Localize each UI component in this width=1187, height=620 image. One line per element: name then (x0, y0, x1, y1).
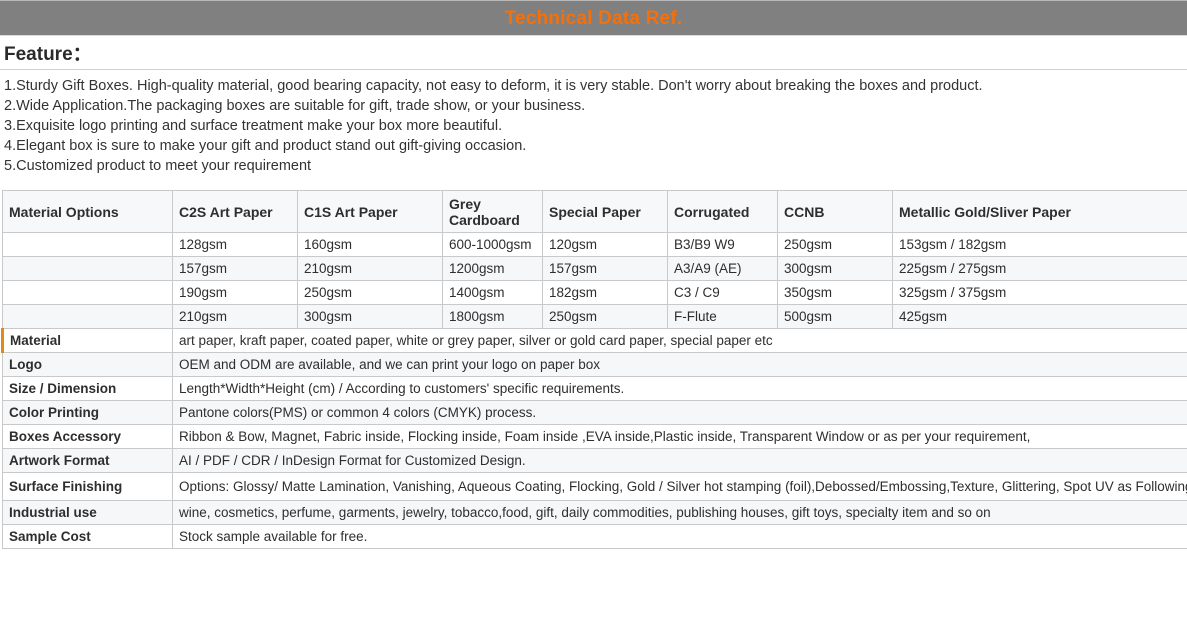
spec-row-color-printing: Color Printing Pantone colors(PMS) or co… (3, 401, 1187, 425)
column-header-metallic-paper: Metallic Gold/Sliver Paper (893, 191, 1187, 233)
spec-row-boxes-accessory: Boxes Accessory Ribbon & Bow, Magnet, Fa… (3, 425, 1187, 449)
material-options-header-row: Material Options C2S Art Paper C1S Art P… (3, 191, 1187, 233)
feature-line: 4.Elegant box is sure to make your gift … (4, 136, 1183, 156)
spec-row-logo: Logo OEM and ODM are available, and we c… (3, 353, 1187, 377)
column-header-ccnb: CCNB (778, 191, 893, 233)
cell-metallic: 153gsm / 182gsm (893, 233, 1187, 257)
spec-label: Size / Dimension (3, 377, 173, 401)
cell-metallic: 325gsm / 375gsm (893, 281, 1187, 305)
cell-c2s: 210gsm (173, 305, 298, 329)
spec-value: Stock sample available for free. (173, 525, 1187, 549)
cell-corrugated: F-Flute (668, 305, 778, 329)
cell-material-options (3, 233, 173, 257)
spec-row-industrial-use: Industrial use wine, cosmetics, perfume,… (3, 501, 1187, 525)
cell-special: 157gsm (543, 257, 668, 281)
cell-ccnb: 500gsm (778, 305, 893, 329)
column-header-grey-cardboard: Grey Cardboard (443, 191, 543, 233)
column-header-special-paper: Special Paper (543, 191, 668, 233)
cell-c2s: 157gsm (173, 257, 298, 281)
feature-list: 1.Sturdy Gift Boxes. High-quality materi… (0, 70, 1187, 182)
spec-value: Pantone colors(PMS) or common 4 colors (… (173, 401, 1187, 425)
spec-label: Sample Cost (3, 525, 173, 549)
spec-label: Industrial use (3, 501, 173, 525)
spec-row-material: Material art paper, kraft paper, coated … (3, 329, 1187, 353)
spec-value: OEM and ODM are available, and we can pr… (173, 353, 1187, 377)
spec-label: Color Printing (3, 401, 173, 425)
cell-c1s: 210gsm (298, 257, 443, 281)
cell-c1s: 300gsm (298, 305, 443, 329)
feature-line: 1.Sturdy Gift Boxes. High-quality materi… (4, 76, 1183, 96)
cell-grey: 1800gsm (443, 305, 543, 329)
cell-material-options (3, 281, 173, 305)
cell-special: 182gsm (543, 281, 668, 305)
table-row: 157gsm 210gsm 1200gsm 157gsm A3/A9 (AE) … (3, 257, 1187, 281)
specification-table: Material Options C2S Art Paper C1S Art P… (1, 190, 1187, 549)
spec-label: Surface Finishing (3, 473, 173, 501)
spec-label: Artwork Format (3, 449, 173, 473)
cell-ccnb: 350gsm (778, 281, 893, 305)
column-header-c1s-art-paper: C1S Art Paper (298, 191, 443, 233)
feature-line: 3.Exquisite logo printing and surface tr… (4, 116, 1183, 136)
table-row: 210gsm 300gsm 1800gsm 250gsm F-Flute 500… (3, 305, 1187, 329)
column-header-corrugated: Corrugated (668, 191, 778, 233)
table-row: 190gsm 250gsm 1400gsm 182gsm C3 / C9 350… (3, 281, 1187, 305)
spec-value: Options: Glossy/ Matte Lamination, Vanis… (173, 473, 1187, 501)
cell-grey: 600-1000gsm (443, 233, 543, 257)
page-title: Technical Data Ref. (505, 9, 683, 28)
cell-material-options (3, 305, 173, 329)
cell-ccnb: 250gsm (778, 233, 893, 257)
spec-label: Material (3, 329, 173, 353)
cell-c2s: 128gsm (173, 233, 298, 257)
column-header-material-options: Material Options (3, 191, 173, 233)
spec-value: wine, cosmetics, perfume, garments, jewe… (173, 501, 1187, 525)
title-banner: Technical Data Ref. (0, 0, 1187, 36)
cell-special: 250gsm (543, 305, 668, 329)
cell-metallic: 225gsm / 275gsm (893, 257, 1187, 281)
feature-heading-label: Feature： (4, 39, 92, 66)
cell-ccnb: 300gsm (778, 257, 893, 281)
cell-corrugated: B3/B9 W9 (668, 233, 778, 257)
spec-row-size-dimension: Size / Dimension Length*Width*Height (cm… (3, 377, 1187, 401)
cell-special: 120gsm (543, 233, 668, 257)
column-header-c2s-art-paper: C2S Art Paper (173, 191, 298, 233)
cell-grey: 1400gsm (443, 281, 543, 305)
spec-value: Ribbon & Bow, Magnet, Fabric inside, Flo… (173, 425, 1187, 449)
cell-c2s: 190gsm (173, 281, 298, 305)
feature-line: 2.Wide Application.The packaging boxes a… (4, 96, 1183, 116)
feature-heading: Feature： (0, 36, 1187, 70)
spec-value: art paper, kraft paper, coated paper, wh… (173, 329, 1187, 353)
cell-metallic: 425gsm (893, 305, 1187, 329)
cell-corrugated: C3 / C9 (668, 281, 778, 305)
cell-grey: 1200gsm (443, 257, 543, 281)
cell-c1s: 250gsm (298, 281, 443, 305)
technical-data-sheet: Technical Data Ref. Feature： 1.Sturdy Gi… (0, 0, 1187, 620)
spec-label: Logo (3, 353, 173, 377)
spec-row-artwork-format: Artwork Format AI / PDF / CDR / InDesign… (3, 449, 1187, 473)
spec-row-sample-cost: Sample Cost Stock sample available for f… (3, 525, 1187, 549)
feature-line: 5.Customized product to meet your requir… (4, 156, 1183, 176)
table-row: 128gsm 160gsm 600-1000gsm 120gsm B3/B9 W… (3, 233, 1187, 257)
cell-c1s: 160gsm (298, 233, 443, 257)
cell-corrugated: A3/A9 (AE) (668, 257, 778, 281)
spec-value: Length*Width*Height (cm) / According to … (173, 377, 1187, 401)
spec-row-surface-finishing: Surface Finishing Options: Glossy/ Matte… (3, 473, 1187, 501)
spec-label: Boxes Accessory (3, 425, 173, 449)
cell-material-options (3, 257, 173, 281)
spec-value: AI / PDF / CDR / InDesign Format for Cus… (173, 449, 1187, 473)
